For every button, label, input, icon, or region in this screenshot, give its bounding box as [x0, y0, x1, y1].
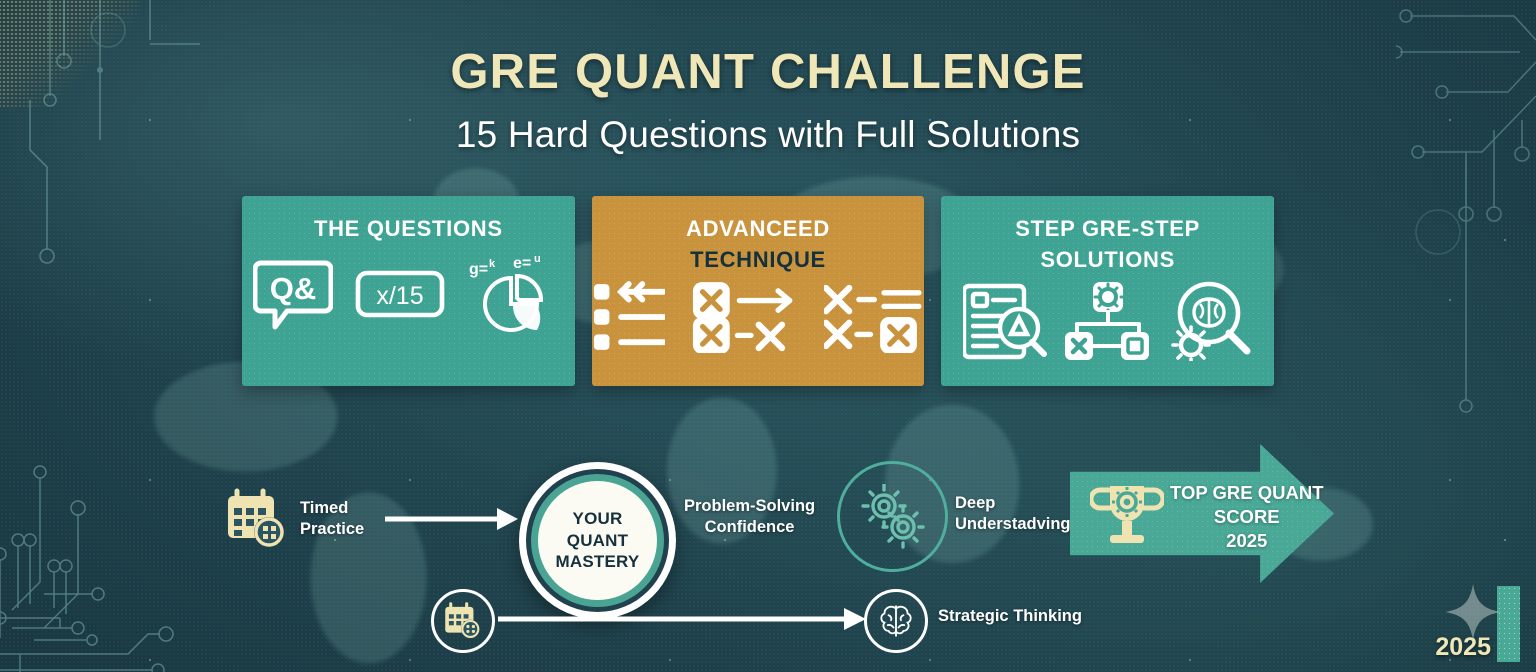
card-icon-row: Q& x/15 g= k e= u	[242, 254, 575, 334]
fraction-badge-icon: x/15	[355, 270, 445, 318]
label-line-2: Confidence	[684, 517, 815, 538]
card-title: ADVANCEED TECHNIQUE	[592, 213, 925, 275]
svg-text:g=: g=	[469, 261, 488, 278]
gears-circle[interactable]	[837, 461, 948, 572]
flow-node-problem-solving[interactable]: Problem-Solving Confidence	[684, 496, 815, 538]
flow-node-timed-practice[interactable]: Timed Practice	[226, 488, 364, 550]
banner-line-2: SCORE	[1170, 505, 1324, 529]
mastery-circle[interactable]: YOUR QUANT MASTERY	[519, 462, 676, 619]
gears-icon	[860, 484, 926, 550]
infographic-canvas: GRE QUANT CHALLENGE 15 Hard Questions wi…	[0, 0, 1536, 672]
svg-text:x/15: x/15	[377, 282, 424, 310]
banner-content: TOP GRE QUANT SCORE 2025	[1090, 480, 1324, 554]
brain-circle-icon	[877, 602, 915, 640]
document-magnifier-icon	[963, 282, 1047, 360]
banner-label: TOP GRE QUANT SCORE 2025	[1170, 481, 1324, 553]
card-title-line2: TECHNIQUE	[592, 244, 925, 275]
arrow-practice-to-mastery	[385, 506, 520, 532]
card-title-line2: SOLUTIONS	[941, 244, 1274, 275]
mastery-label: YOUR QUANT MASTERY	[556, 508, 640, 572]
svg-text:Q&: Q&	[270, 271, 317, 306]
svg-text:u: u	[534, 254, 541, 265]
label-line-1: Deep	[955, 493, 1071, 514]
flow-node-strategic-thinking[interactable]: Strategic Thinking	[938, 606, 1082, 627]
card-advanced-technique[interactable]: ADVANCEED TECHNIQUE	[592, 196, 925, 386]
four-point-star-icon	[1445, 584, 1501, 640]
header-block: GRE QUANT CHALLENGE 15 Hard Questions wi…	[0, 44, 1536, 156]
card-title-line1: ADVANCEED	[592, 213, 925, 244]
calendar-circle-node[interactable]	[431, 589, 495, 653]
flow-label-strategic-thinking: Strategic Thinking	[938, 606, 1082, 627]
card-icon-row	[592, 281, 925, 353]
label-line-1: Timed	[300, 498, 364, 519]
label-line-1: Problem-Solving	[684, 496, 815, 517]
mastery-line-2: QUANT	[556, 530, 640, 551]
flow-label-timed-practice: Timed Practice	[300, 498, 364, 540]
label-line-2: Understadving	[955, 514, 1071, 535]
brain-circle-node[interactable]	[864, 589, 928, 653]
card-step-by-step-solutions[interactable]: STEP GRE-STEP SOLUTIONS	[941, 196, 1274, 386]
multiply-arrow-icon	[691, 281, 797, 353]
page-title: GRE QUANT CHALLENGE	[0, 44, 1536, 100]
card-icon-row	[941, 281, 1274, 361]
pie-chart-formula-icon: g= k e= u	[467, 254, 563, 334]
magnifier-brain-gear-icon	[1167, 281, 1253, 361]
calendar-clock-circle-icon	[444, 602, 482, 640]
mastery-line-3: MASTERY	[556, 551, 640, 572]
calendar-clock-icon	[226, 488, 288, 550]
svg-text:e=: e=	[513, 255, 531, 272]
svg-text:k: k	[489, 258, 496, 270]
flowchart-gear-icon	[1065, 282, 1149, 360]
flow-label-deep-understanding: Deep Understadving	[955, 493, 1071, 535]
banner-line-1: TOP GRE QUANT	[1170, 482, 1324, 503]
feature-cards-row: THE QUESTIONS Q& x/15 g= k e= u	[242, 196, 1274, 386]
top-score-arrow-banner[interactable]: TOP GRE QUANT SCORE 2025	[1070, 444, 1334, 583]
mastery-line-1: YOUR	[556, 508, 640, 529]
card-title: STEP GRE-STEP SOLUTIONS	[941, 213, 1274, 275]
banner-line-3: 2025	[1170, 529, 1324, 553]
flow-label-problem-solving: Problem-Solving Confidence	[684, 496, 815, 538]
footer-year-mark: 2025	[1435, 586, 1520, 662]
checklist-arrow-icon	[592, 281, 666, 353]
card-title-line1: STEP GRE-STEP	[941, 213, 1274, 244]
card-title: THE QUESTIONS	[242, 213, 575, 244]
equation-x-icon	[824, 281, 925, 353]
speech-bubble-qa-icon: Q&	[253, 255, 333, 333]
card-the-questions[interactable]: THE QUESTIONS Q& x/15 g= k e= u	[242, 196, 575, 386]
flow-node-deep-understanding[interactable]: Deep Understadving	[955, 493, 1071, 535]
label-line-2: Practice	[300, 519, 364, 540]
trophy-gear-icon	[1090, 480, 1164, 554]
page-subtitle: 15 Hard Questions with Full Solutions	[0, 114, 1536, 156]
